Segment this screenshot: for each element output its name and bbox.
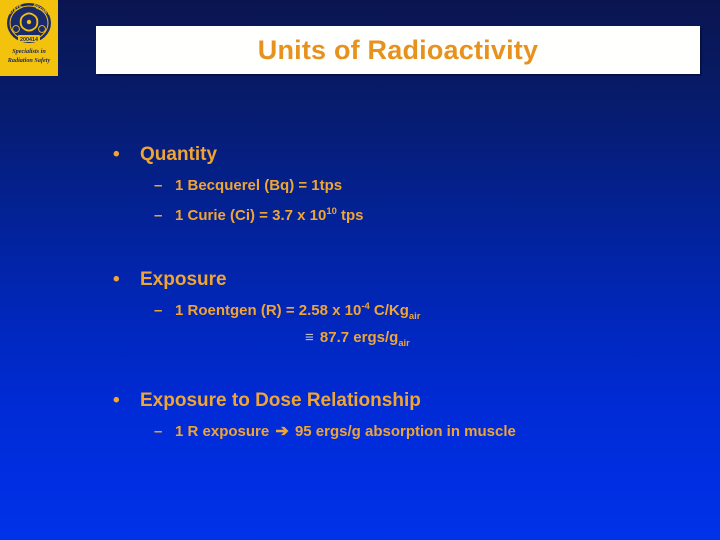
content-group: • Quantity – 1 Becquerel (Bq) = 1tps – 1… bbox=[0, 142, 720, 228]
bullet-heading-text: Quantity bbox=[140, 144, 217, 165]
sub-bullet-text: 1 Curie (Ci) = 3.7 x 10 bbox=[175, 207, 326, 224]
content-group: • Exposure – 1 Roentgen (R) = 2.58 x 10-… bbox=[0, 267, 720, 350]
bullet-glyph-icon: • bbox=[113, 267, 120, 293]
sub-bullet-text: 1 Becquerel (Bq) = 1tps bbox=[175, 177, 342, 194]
sub-bullet-suffix: C/Kg bbox=[370, 302, 409, 319]
bullet-heading-text: Exposure to Dose Relationship bbox=[140, 390, 421, 411]
subscript: air bbox=[398, 338, 410, 349]
dash-glyph-icon: – bbox=[154, 174, 162, 198]
dash-glyph-icon: – bbox=[154, 420, 162, 444]
exponent: -4 bbox=[361, 301, 369, 312]
equivalence-glyph-icon: ≡ bbox=[305, 329, 314, 346]
sub-bullet-continuation: ≡ 87.7 ergs/gair bbox=[0, 326, 720, 350]
logo-tagline: Specialists in Radiation Safety bbox=[0, 48, 58, 65]
bullet-heading: • Quantity bbox=[0, 142, 720, 168]
bullet-heading: • Exposure bbox=[0, 267, 720, 293]
continuation-text: 87.7 ergs/g bbox=[316, 329, 399, 346]
title-banner: Units of Radioactivity bbox=[96, 26, 700, 74]
sub-bullet-suffix: 95 ergs/g absorption in muscle bbox=[291, 423, 516, 440]
sub-bullet-item: – 1 Curie (Ci) = 3.7 x 1010 tps bbox=[0, 204, 720, 228]
logo-tagline-line2: Radiation Safety bbox=[0, 57, 58, 66]
bullet-glyph-icon: • bbox=[113, 142, 120, 168]
content-group: • Exposure to Dose Relationship – 1 R ex… bbox=[0, 388, 720, 444]
slide: 200414 STATE PERMIT Specialists in Radia… bbox=[0, 0, 720, 540]
exponent: 10 bbox=[326, 206, 337, 217]
company-logo: 200414 STATE PERMIT Specialists in Radia… bbox=[0, 0, 58, 76]
bullet-glyph-icon: • bbox=[113, 388, 120, 414]
dash-glyph-icon: – bbox=[154, 204, 162, 228]
sub-bullet-item: – 1 Roentgen (R) = 2.58 x 10-4 C/Kgair bbox=[0, 299, 720, 323]
right-arrow-icon: ➔ bbox=[273, 423, 290, 440]
seal-center-text: 200414 bbox=[20, 37, 38, 43]
state-permit-seal-icon: 200414 STATE PERMIT bbox=[4, 2, 54, 46]
sub-bullet-suffix: tps bbox=[337, 207, 364, 224]
bullet-heading-text: Exposure bbox=[140, 269, 227, 290]
sub-bullet-text: 1 Roentgen (R) = 2.58 x 10 bbox=[175, 302, 361, 319]
subscript: air bbox=[409, 311, 421, 322]
logo-tagline-line1: Specialists in bbox=[0, 48, 58, 57]
sub-bullet-item: – 1 R exposure ➔ 95 ergs/g absorption in… bbox=[0, 420, 720, 444]
dash-glyph-icon: – bbox=[154, 299, 162, 323]
sub-bullet-text: 1 R exposure bbox=[175, 423, 273, 440]
bullet-heading: • Exposure to Dose Relationship bbox=[0, 388, 720, 414]
slide-title: Units of Radioactivity bbox=[258, 35, 538, 66]
slide-body: • Quantity – 1 Becquerel (Bq) = 1tps – 1… bbox=[0, 128, 720, 528]
sub-bullet-item: – 1 Becquerel (Bq) = 1tps bbox=[0, 174, 720, 198]
